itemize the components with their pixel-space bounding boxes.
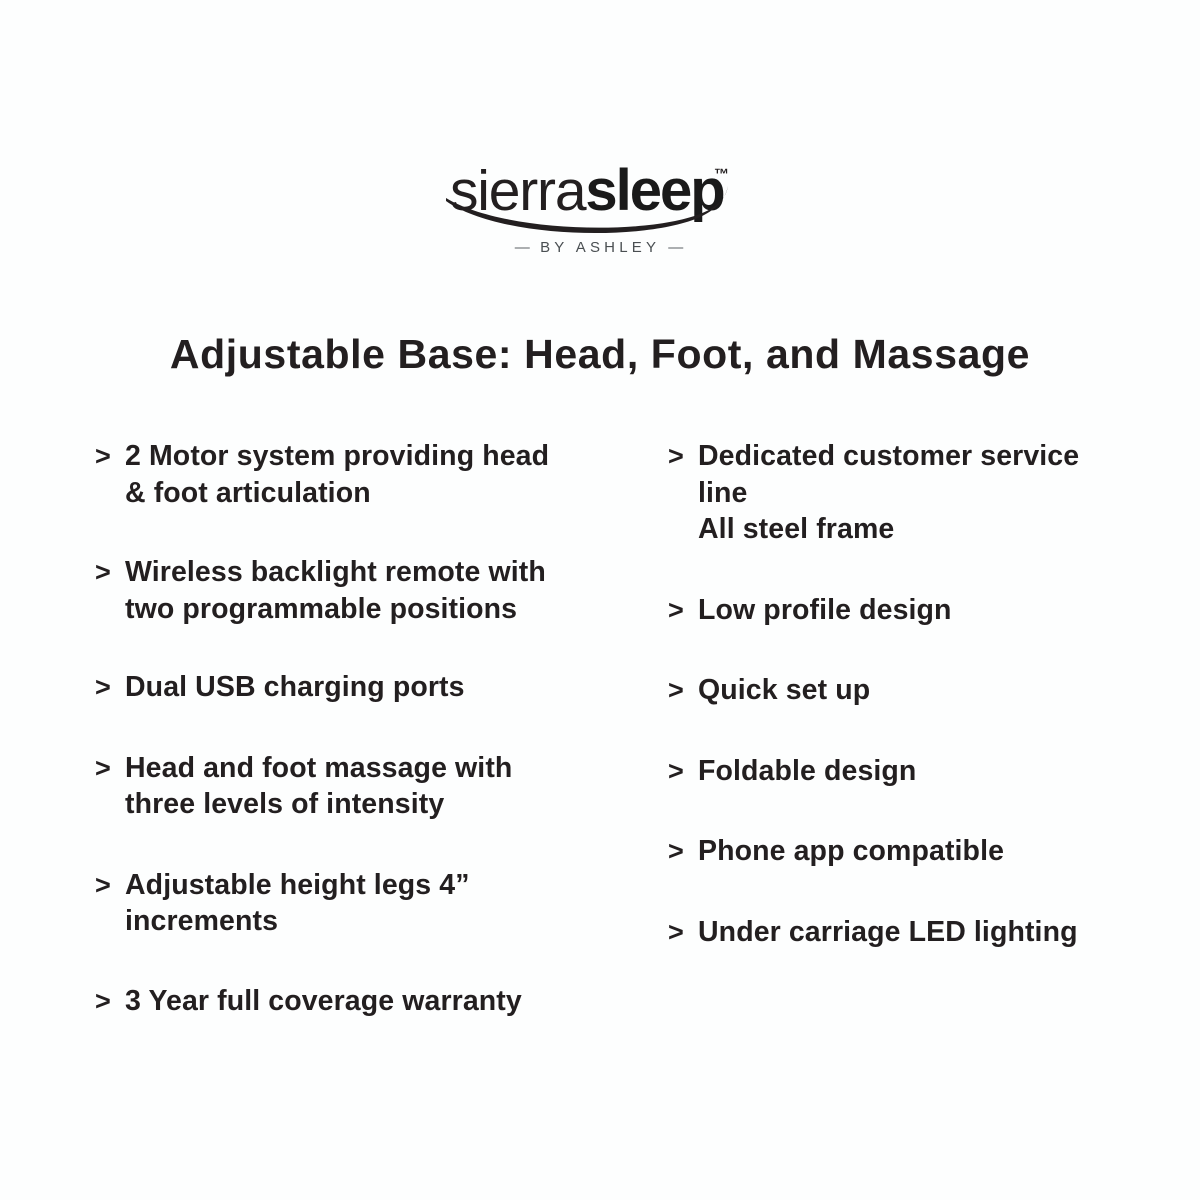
byline-text: BY ASHLEY — [540, 239, 660, 256]
bullet-marker-icon: > — [95, 438, 125, 475]
bullet-marker-icon: > — [668, 438, 698, 475]
list-item: > Dual USB charging ports — [95, 669, 575, 706]
list-item-label: Dual USB charging ports — [125, 669, 575, 706]
bullet-marker-icon: > — [95, 554, 125, 591]
bullet-marker-icon: > — [668, 672, 698, 709]
list-item-label: Under carriage LED lighting — [698, 914, 1088, 951]
list-item-label: Dedicated customer service line All stee… — [698, 438, 1088, 548]
brand-logo-block: sierrasleep ™ — BY ASHLEY — — [0, 160, 1200, 256]
feature-column-left: > 2 Motor system providing head & foot a… — [95, 438, 575, 1019]
bullet-marker-icon: > — [668, 914, 698, 951]
byline-dash-left: — — [515, 239, 532, 256]
product-feature-sheet: { "brand": { "name_light": "sierra", "na… — [0, 0, 1200, 1200]
list-item: > Dedicated customer service line All st… — [668, 438, 1088, 548]
list-item: > Low profile design — [668, 592, 1088, 629]
list-item-label: Foldable design — [698, 753, 1088, 790]
list-item-label: 3 Year full coverage warranty — [125, 983, 575, 1020]
list-item-label: Head and foot massage with three levels … — [125, 750, 575, 823]
bullet-marker-icon: > — [668, 592, 698, 629]
list-item-label: 2 Motor system providing head & foot art… — [125, 438, 575, 511]
logo-byline: — BY ASHLEY — — [0, 239, 1200, 256]
list-item: > Phone app compatible — [668, 833, 1088, 870]
list-item: > Wireless backlight remote with two pro… — [95, 554, 575, 627]
list-item-label: Adjustable height legs 4” increments — [125, 867, 575, 940]
feature-column-right: > Dedicated customer service line All st… — [668, 438, 1088, 950]
list-item-label: Quick set up — [698, 672, 1088, 709]
bullet-marker-icon: > — [95, 867, 125, 904]
list-item: > Head and foot massage with three level… — [95, 750, 575, 823]
list-item: > 2 Motor system providing head & foot a… — [95, 438, 575, 511]
list-item-primary-text: Dedicated customer service line — [698, 440, 1079, 509]
list-item-label: Phone app compatible — [698, 833, 1088, 870]
page-title: Adjustable Base: Head, Foot, and Massage — [0, 331, 1200, 378]
bullet-marker-icon: > — [95, 750, 125, 787]
byline-dash-right: — — [668, 239, 685, 256]
bullet-marker-icon: > — [95, 983, 125, 1020]
trademark-icon: ™ — [714, 166, 729, 183]
feature-list: > 2 Motor system providing head & foot a… — [0, 438, 1200, 1148]
list-item-label: Low profile design — [698, 592, 1088, 629]
list-item: > Under carriage LED lighting — [668, 914, 1088, 951]
list-item-secondary-text: All steel frame — [698, 511, 1088, 548]
bullet-marker-icon: > — [668, 753, 698, 790]
logo-word-sierra: sierra — [450, 159, 585, 223]
list-item: > 3 Year full coverage warranty — [95, 983, 575, 1020]
list-item: > Quick set up — [668, 672, 1088, 709]
sierra-sleep-logo: sierrasleep ™ — [450, 160, 750, 232]
logo-wordmark: sierrasleep — [450, 160, 750, 222]
bullet-marker-icon: > — [95, 669, 125, 706]
list-item-label: Wireless backlight remote with two progr… — [125, 554, 575, 627]
bullet-marker-icon: > — [668, 833, 698, 870]
list-item: > Foldable design — [668, 753, 1088, 790]
logo-word-sleep: sleep — [585, 158, 723, 223]
list-item: > Adjustable height legs 4” increments — [95, 867, 575, 940]
